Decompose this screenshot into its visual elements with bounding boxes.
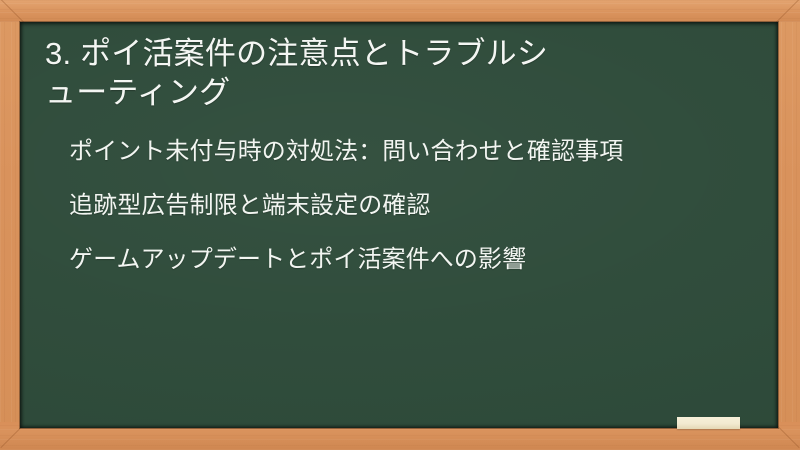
frame-rail-top — [0, 0, 800, 22]
page-title: 3. ポイ活案件の注意点とトラブルシューティング — [32, 30, 752, 112]
chalkboard-slide: 3. ポイ活案件の注意点とトラブルシューティング ポイント未付与時の対処法：問い… — [0, 0, 800, 450]
page-title-line-2: ューティング — [45, 75, 230, 110]
topic-list: ポイント未付与時の対処法：問い合わせと確認事項 追跡型広告制限と端末設定の確認 … — [32, 135, 752, 277]
chalkboard-surface: 3. ポイ活案件の注意点とトラブルシューティング ポイント未付与時の対処法：問い… — [20, 22, 778, 428]
list-item: ゲームアップデートとポイ活案件への影響 — [69, 243, 718, 277]
chalk-stick — [677, 417, 740, 429]
list-item: ポイント未付与時の対処法：問い合わせと確認事項 — [69, 135, 718, 169]
page-title-line-1: 3. ポイ活案件の注意点とトラブルシ — [45, 36, 548, 71]
list-item: 追跡型広告制限と端末設定の確認 — [69, 189, 718, 223]
slide-content: 3. ポイ活案件の注意点とトラブルシューティング ポイント未付与時の対処法：問い… — [20, 22, 778, 428]
